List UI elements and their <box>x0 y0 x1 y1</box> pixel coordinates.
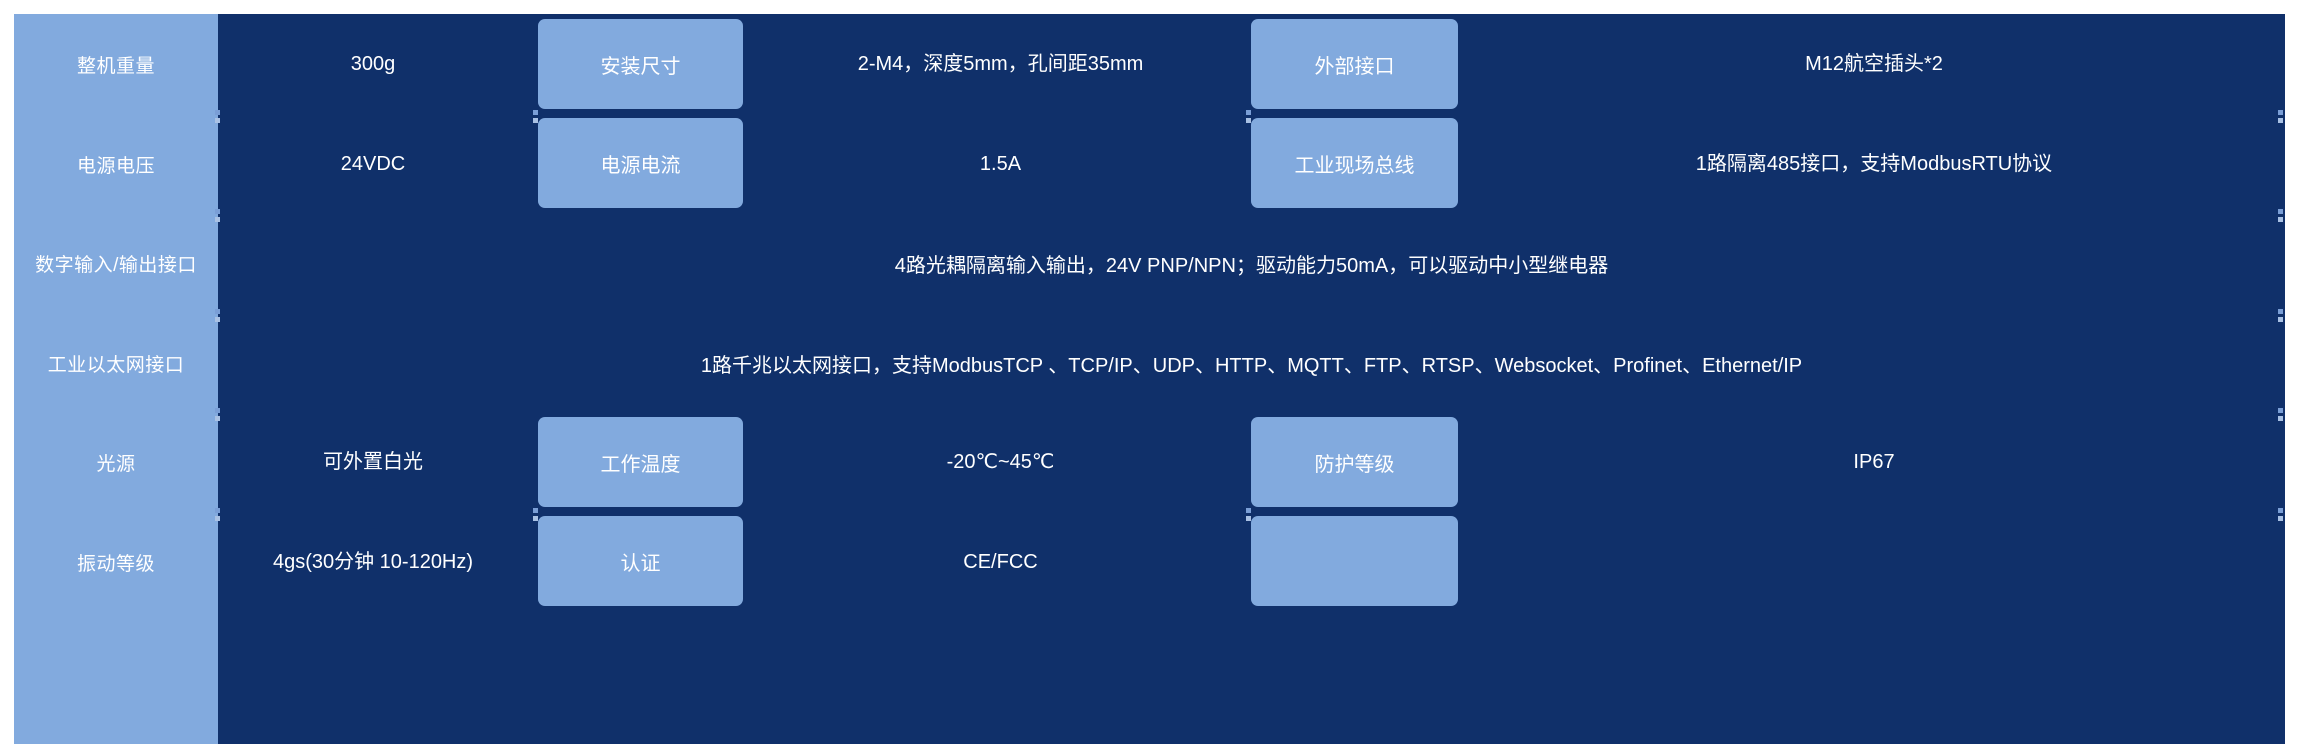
table-resize-handle[interactable] <box>2278 118 2283 123</box>
table-resize-handle[interactable] <box>2278 508 2283 513</box>
row-3-value: 1路千兆以太网接口，支持ModbusTCP 、TCP/IP、UDP、HTTP、M… <box>218 313 2285 413</box>
row-0-key-2: 安装尺寸 <box>538 19 743 109</box>
row-5-value-2: CE/FCC <box>753 512 1248 612</box>
row-4-key-2: 工作温度 <box>538 417 743 507</box>
row-4-value-3: IP67 <box>1463 412 2285 512</box>
table-resize-handle[interactable] <box>1246 118 1251 123</box>
row-1-key-2: 电源电流 <box>538 118 743 208</box>
spec-table: 整机重量 电源电压 数字输入/输出接口 工业以太网接口 光源 振动等级 300g… <box>14 14 2285 744</box>
table-resize-handle[interactable] <box>533 118 538 123</box>
row-5-value-1: 4gs(30分钟 10-120Hz) <box>218 512 528 612</box>
row-4-key-3: 防护等级 <box>1251 417 1458 507</box>
table-row: 4gs(30分钟 10-120Hz) 认证 CE/FCC <box>218 512 2285 612</box>
table-resize-handle[interactable] <box>2278 408 2283 413</box>
table-resize-handle[interactable] <box>215 118 220 123</box>
table-resize-handle[interactable] <box>533 508 538 513</box>
table-resize-handle[interactable] <box>2278 309 2283 314</box>
row-4-value-1: 可外置白光 <box>218 412 528 512</box>
row-1-value-2: 1.5A <box>753 114 1248 214</box>
table-resize-handle[interactable] <box>1246 508 1251 513</box>
table-row: 1路千兆以太网接口，支持ModbusTCP 、TCP/IP、UDP、HTTP、M… <box>218 313 2285 413</box>
row-1-value-1: 24VDC <box>218 114 528 214</box>
table-resize-handle[interactable] <box>2278 209 2283 214</box>
table-resize-handle[interactable] <box>2278 516 2283 521</box>
table-resize-handle[interactable] <box>533 110 538 115</box>
spec-value-area: 300g 安装尺寸 2-M4，深度5mm，孔间距35mm 外部接口 M12航空插… <box>218 14 2285 744</box>
row-label-5: 振动等级 <box>14 512 218 612</box>
table-resize-handle[interactable] <box>215 209 220 214</box>
row-label-4: 光源 <box>14 412 218 512</box>
row-0-value-2: 2-M4，深度5mm，孔间距35mm <box>753 14 1248 114</box>
spec-label-column: 整机重量 电源电压 数字输入/输出接口 工业以太网接口 光源 振动等级 <box>14 14 218 744</box>
table-resize-handle[interactable] <box>215 309 220 314</box>
table-resize-handle[interactable] <box>215 408 220 413</box>
table-resize-handle[interactable] <box>2278 110 2283 115</box>
row-1-value-3: 1路隔离485接口，支持ModbusRTU协议 <box>1463 114 2285 214</box>
row-5-key-3 <box>1251 516 1458 606</box>
table-row: 300g 安装尺寸 2-M4，深度5mm，孔间距35mm 外部接口 M12航空插… <box>218 14 2285 114</box>
table-resize-handle[interactable] <box>215 416 220 421</box>
row-label-0: 整机重量 <box>14 14 218 114</box>
table-resize-handle[interactable] <box>2278 217 2283 222</box>
row-5-key-2: 认证 <box>538 516 743 606</box>
row-5-value-3 <box>1463 512 2285 612</box>
row-label-2: 数字输入/输出接口 <box>14 213 218 313</box>
table-resize-handle[interactable] <box>215 110 220 115</box>
table-resize-handle[interactable] <box>1246 110 1251 115</box>
table-resize-handle[interactable] <box>215 516 220 521</box>
table-resize-handle[interactable] <box>1246 516 1251 521</box>
table-resize-handle[interactable] <box>215 508 220 513</box>
row-4-value-2: -20℃~45℃ <box>753 412 1248 512</box>
table-row: 可外置白光 工作温度 -20℃~45℃ 防护等级 IP67 <box>218 412 2285 512</box>
row-2-value: 4路光耦隔离输入输出，24V PNP/NPN；驱动能力50mA，可以驱动中小型继… <box>218 213 2285 313</box>
row-0-value-1: 300g <box>218 14 528 114</box>
row-1-key-3: 工业现场总线 <box>1251 118 1458 208</box>
table-resize-handle[interactable] <box>2278 416 2283 421</box>
table-row: 24VDC 电源电流 1.5A 工业现场总线 1路隔离485接口，支持Modbu… <box>218 114 2285 214</box>
table-resize-handle[interactable] <box>215 217 220 222</box>
table-resize-handle[interactable] <box>215 317 220 322</box>
table-row: 4路光耦隔离输入输出，24V PNP/NPN；驱动能力50mA，可以驱动中小型继… <box>218 213 2285 313</box>
row-0-key-3: 外部接口 <box>1251 19 1458 109</box>
row-0-value-3: M12航空插头*2 <box>1463 14 2285 114</box>
table-resize-handle[interactable] <box>533 516 538 521</box>
row-label-3: 工业以太网接口 <box>14 313 218 413</box>
row-label-1: 电源电压 <box>14 114 218 214</box>
table-resize-handle[interactable] <box>2278 317 2283 322</box>
